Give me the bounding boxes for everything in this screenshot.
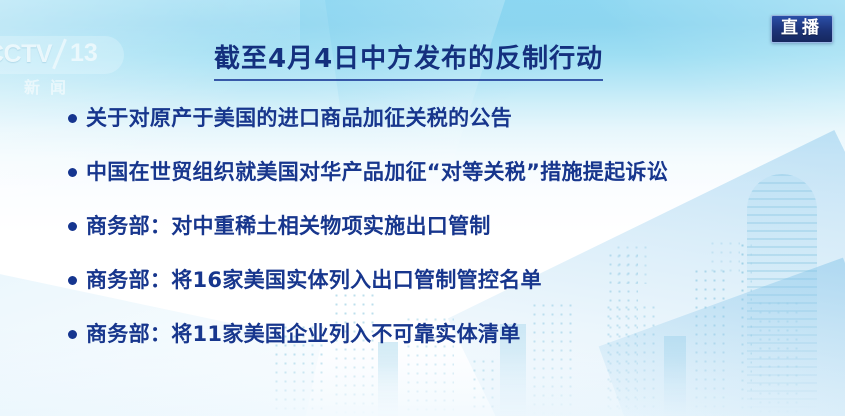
list-item-label: 中国在世贸组织就美国对华产品加征“对等关税”措施提起诉讼 <box>86 157 668 187</box>
list-item-label: 商务部：将16家美国实体列入出口管制管控名单 <box>86 265 542 295</box>
list-item-label: 商务部：对中重稀土相关物项实施出口管制 <box>86 211 491 241</box>
bullet-dot-icon <box>68 168 77 177</box>
headline-block: 截至4月4日中方发布的反制行动 <box>214 43 603 81</box>
logo-channel-subtitle: 新闻 <box>24 74 76 98</box>
list-item: 商务部：将11家美国企业列入不可靠实体清单 <box>68 319 828 373</box>
list-item: 商务部：将16家美国实体列入出口管制管控名单 <box>68 265 828 319</box>
bullet-dot-icon <box>68 114 77 123</box>
list-item: 关于对原产于美国的进口商品加征关税的公告 <box>68 103 828 157</box>
live-badge: 直播 <box>771 15 833 43</box>
live-badge-label: 直播 <box>781 19 823 38</box>
list-item: 中国在世贸组织就美国对华产品加征“对等关税”措施提起诉讼 <box>68 157 828 211</box>
headline-underline <box>214 79 603 81</box>
bullet-dot-icon <box>68 276 77 285</box>
logo-channel-number: 13 <box>70 39 98 68</box>
logo-cctv-text: CCTV <box>0 40 52 69</box>
list-item-label: 关于对原产于美国的进口商品加征关税的公告 <box>86 103 512 133</box>
countermeasures-list: 关于对原产于美国的进口商品加征关税的公告 中国在世贸组织就美国对华产品加征“对等… <box>68 103 828 373</box>
list-item-label: 商务部：将11家美国企业列入不可靠实体清单 <box>86 319 521 349</box>
broadcast-lower-third-screen: CCTV 13 新闻 直播 截至4月4日中方发布的反制行动 关于对原产于美国的进… <box>0 0 845 416</box>
bullet-dot-icon <box>68 330 77 339</box>
list-item: 商务部：对中重稀土相关物项实施出口管制 <box>68 211 828 265</box>
bullet-dot-icon <box>68 222 77 231</box>
page-title: 截至4月4日中方发布的反制行动 <box>214 43 603 75</box>
cctv13-channel-logo: CCTV 13 新闻 <box>0 36 124 94</box>
